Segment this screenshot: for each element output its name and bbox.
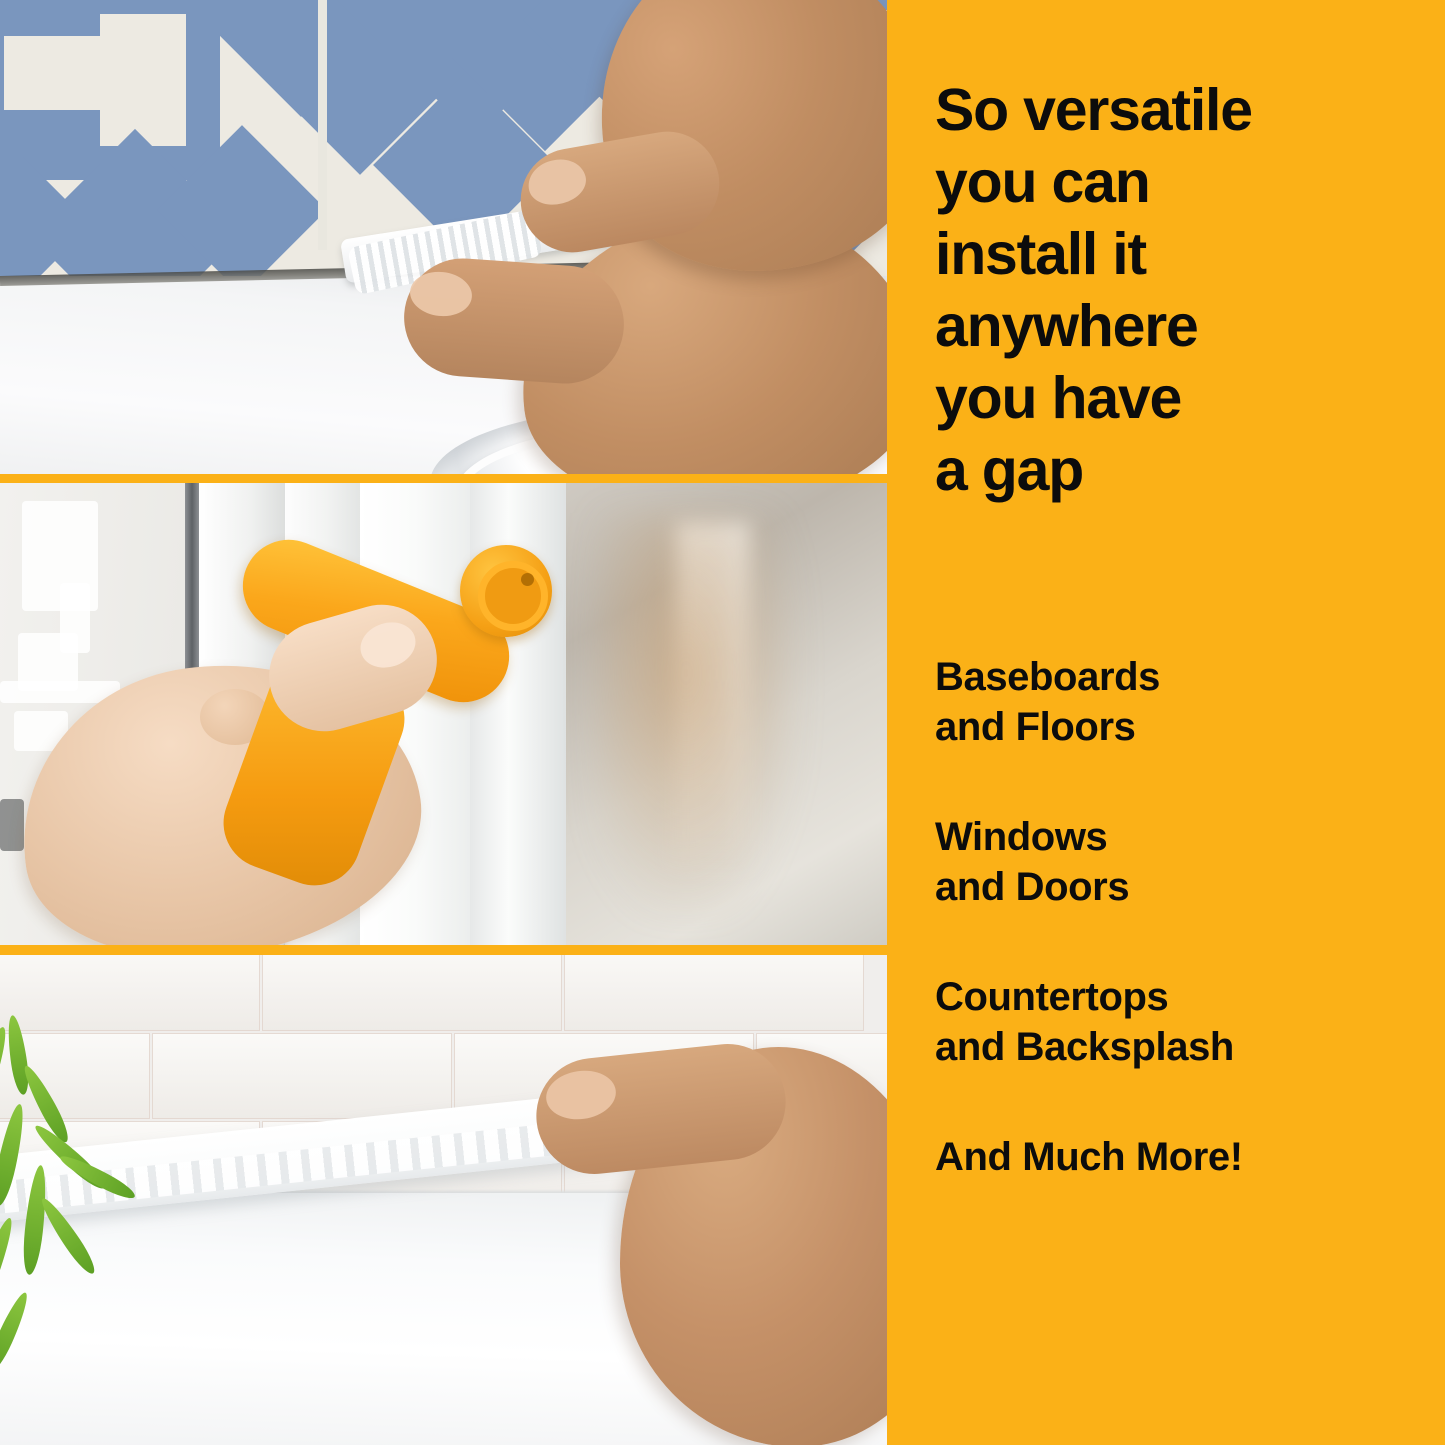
applicator-nozzle-hole: [521, 573, 534, 586]
list-item-line: and Backsplash: [935, 1022, 1435, 1072]
headline-line-6: a gap: [935, 434, 1435, 506]
list-item-line: and Doors: [935, 862, 1435, 912]
list-item: And Much More!: [935, 1132, 1435, 1182]
window-reflection: [596, 513, 796, 913]
tile-grout-line: [318, 0, 327, 250]
list-item-line: Countertops: [935, 972, 1435, 1022]
page-title: So versatile you can install it anywhere…: [935, 74, 1435, 506]
photo-panel-countertop: [0, 955, 887, 1445]
list-item: Baseboards and Floors: [935, 652, 1435, 752]
headline-line-2: you can: [935, 146, 1435, 218]
panel-divider-bottom: [0, 946, 887, 955]
headline-line-3: install it: [935, 218, 1435, 290]
list-item-line: and Floors: [935, 702, 1435, 752]
photo-panel-backsplash: [0, 0, 887, 474]
product-feature-card: So versatile you can install it anywhere…: [0, 0, 1445, 1445]
window-scene: [0, 483, 887, 945]
list-item-line: And Much More!: [935, 1132, 1435, 1182]
tile-shape: [0, 110, 100, 154]
list-item-line: Windows: [935, 812, 1435, 862]
headline-line-5: you have: [935, 362, 1435, 434]
photo-column: [0, 0, 887, 1445]
list-item: Countertops and Backsplash: [935, 972, 1435, 1072]
plant: [0, 1015, 240, 1345]
column-divider: [887, 0, 897, 1445]
list-item-line: Baseboards: [935, 652, 1435, 702]
tile-shape: [0, 0, 100, 36]
use-case-list: Baseboards and Floors Windows and Doors …: [935, 652, 1435, 1182]
applicator-nozzle-ring: [478, 561, 548, 631]
panel-divider-top: [0, 474, 887, 483]
photo-panel-window: [0, 483, 887, 945]
text-column: So versatile you can install it anywhere…: [897, 0, 1445, 1445]
headline-line-1: So versatile: [935, 74, 1435, 146]
list-item: Windows and Doors: [935, 812, 1435, 912]
headline-line-4: anywhere: [935, 290, 1435, 362]
